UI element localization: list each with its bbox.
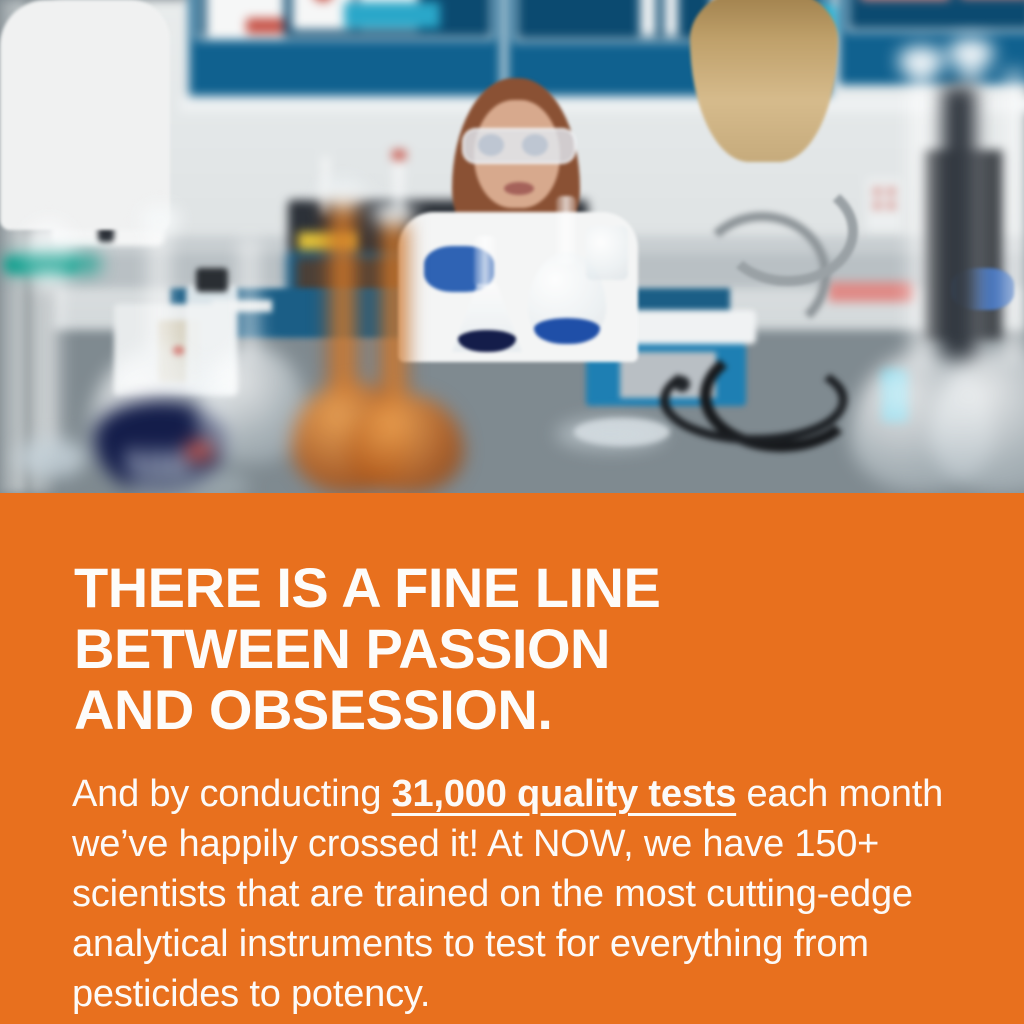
- right-shelf-item: [828, 282, 914, 302]
- fg-amber-a-stopper: [320, 180, 366, 208]
- headline-line-1: THERE IS A FINE LINE: [74, 557, 974, 618]
- scientist-right: [0, 0, 170, 230]
- fg-right-a-stopper: [898, 46, 944, 76]
- fg-right-b-stopper: [948, 38, 994, 68]
- scientist-right-coat: [0, 0, 170, 230]
- shelf-bottle-white-b: [664, 0, 678, 36]
- scientist-right-strap: [718, 176, 858, 286]
- erlenmeyer-neck: [474, 236, 496, 288]
- fg-flask-500-neck: [146, 222, 172, 358]
- tube-cap-1: [392, 150, 406, 160]
- fg-burette-left-base: [16, 438, 86, 478]
- outlet-led-d: [888, 202, 895, 209]
- poster: 500: [0, 0, 1024, 1024]
- scientist-center-lens-right: [522, 134, 548, 156]
- cable-loop-b: [660, 356, 848, 444]
- fg-right-a-neck: [906, 64, 936, 364]
- fg-burette-left-bulb: [22, 220, 76, 288]
- headline-line-3: AND OBSESSION.: [74, 679, 974, 740]
- body-text-before: And by conducting: [72, 773, 392, 815]
- lab-photo: 500: [0, 0, 1024, 493]
- scientist-center-mouth: [504, 182, 534, 195]
- fg-flask-500-stopper: [140, 206, 180, 232]
- lab-scene: 500: [0, 0, 1024, 493]
- body-paragraph: And by conducting 31,000 quality tests e…: [72, 769, 952, 1019]
- page-title: THERE IS A FINE LINE BETWEEN PASSION AND…: [74, 557, 974, 740]
- orange-content-panel: THERE IS A FINE LINE BETWEEN PASSION AND…: [0, 493, 1024, 1024]
- fg-right-flask-c-neck: [1000, 70, 1024, 360]
- headline-line-2: BETWEEN PASSION: [74, 618, 974, 679]
- fg-amber-a-neck: [326, 196, 360, 396]
- outlet-led-a: [874, 188, 881, 195]
- left-bench-bottle-cap: [196, 268, 228, 292]
- fg-clear-flask-neck: [238, 238, 260, 358]
- small-beaker: [586, 226, 628, 280]
- fg-amber-b-neck: [378, 216, 410, 404]
- fg-right-dark-column: [942, 86, 976, 358]
- overhead-cabinet-right-glass: [846, 0, 1024, 32]
- cabinet-valance: [180, 96, 1024, 112]
- scientist-center-lens-left: [478, 134, 504, 156]
- fg-burette-left-clamp: [4, 256, 100, 272]
- fg-amber-b-stopper: [372, 200, 416, 226]
- shelf-bottle-white-a: [640, 0, 656, 36]
- shelf-item-red: [246, 18, 284, 34]
- wall-outlet-plate: [866, 178, 902, 232]
- quality-tests-highlight: 31,000 quality tests: [392, 773, 737, 815]
- outlet-led-b: [888, 188, 895, 195]
- fg-bench-dish-right: [556, 418, 666, 450]
- fg-amber-b-bulb: [348, 394, 464, 493]
- shelf-liquid-teal: [344, 2, 440, 28]
- outlet-led-c: [874, 202, 881, 209]
